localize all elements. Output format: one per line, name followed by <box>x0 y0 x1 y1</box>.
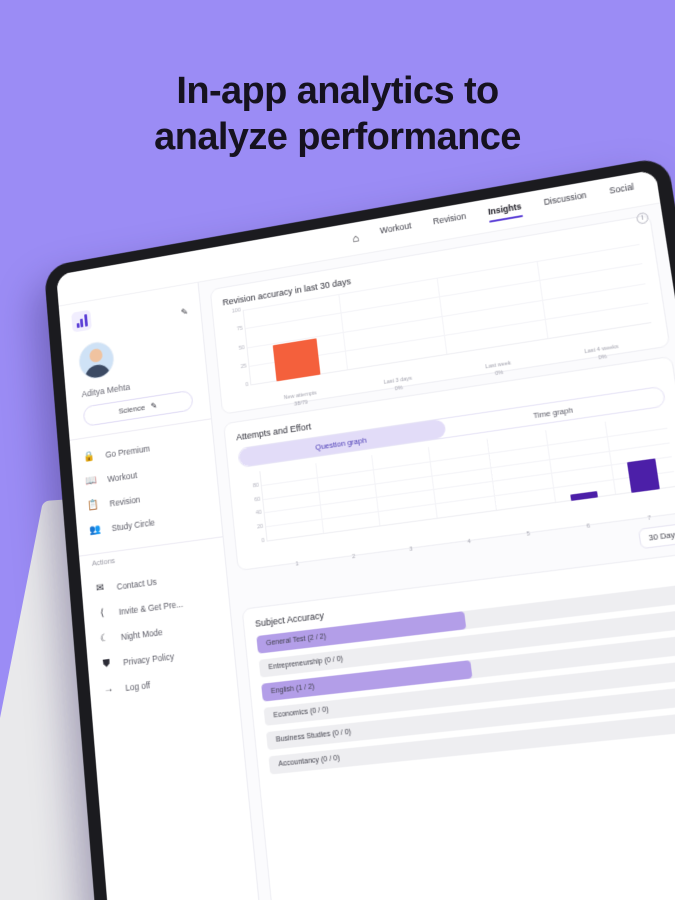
bar-slot <box>428 439 495 519</box>
subject-accuracy-list: General Test (2 / 2)›Entrepreneurship (0… <box>256 584 675 900</box>
sidebar-actions-list: ✉ Contact Us ⟨ Invite & Get Pre... ☾ Nig… <box>80 552 237 704</box>
y-axis-tick: 0 <box>232 382 249 390</box>
people-icon: 👥 <box>89 524 102 537</box>
sidebar-header: ✎ Aditya Mehta Science ✎ <box>59 291 209 429</box>
bar-slot <box>544 422 614 503</box>
subject-accuracy-card: Subject Accuracy › General Test (2 / 2)›… <box>242 551 675 900</box>
headline-line-1: In-app analytics to <box>0 68 675 114</box>
bar-slot <box>371 447 437 526</box>
card-title: Subject Accuracy <box>255 610 325 629</box>
sidebar-item-label: Workout <box>107 470 137 484</box>
sidebar-item-label: Invite & Get Pre... <box>118 598 183 616</box>
chart-bar[interactable] <box>272 338 320 382</box>
subject-row-label: Entrepreneurship (0 / 0) <box>259 655 343 672</box>
promo-headline: In-app analytics to analyze performance <box>0 68 675 161</box>
share-icon: ⟨ <box>96 607 109 620</box>
headline-line-2: analyze performance <box>0 114 675 160</box>
y-axis-tick: 100 <box>224 307 241 315</box>
chart-bar[interactable] <box>627 458 660 493</box>
tab-workout[interactable]: Workout <box>379 221 412 243</box>
y-axis-tick: 50 <box>228 345 245 353</box>
sidebar-item-label: Privacy Policy <box>123 651 175 667</box>
tab-discussion[interactable]: Discussion <box>543 190 588 214</box>
tab-revision[interactable]: Revision <box>432 211 467 233</box>
y-axis-tick: 75 <box>226 326 243 334</box>
home-icon[interactable]: ⌂ <box>352 232 360 245</box>
main-content: i Revision accuracy in last 30 days 0255… <box>199 203 675 900</box>
tab-insights[interactable]: Insights <box>487 201 523 223</box>
chart-bar[interactable] <box>570 491 599 501</box>
logout-icon: → <box>102 683 115 696</box>
book-icon: 📖 <box>85 475 98 487</box>
sidebar-item-label: Revision <box>109 494 140 508</box>
bar-slot <box>536 244 651 339</box>
bar-slot <box>243 294 347 385</box>
bar-slot <box>486 430 555 511</box>
subject-pill-label: Science <box>118 403 145 416</box>
app-logo-icon <box>71 310 92 333</box>
app-body: ✎ Aditya Mehta Science ✎ 🔒 Go Pre <box>59 203 675 900</box>
sidebar-item-label: Contact Us <box>116 576 157 591</box>
subject-row-label: Business Studies (0 / 0) <box>267 728 352 744</box>
y-axis-tick: 0 <box>248 538 265 546</box>
y-axis-tick: 20 <box>246 524 263 532</box>
shield-icon: ⛊ <box>100 658 113 671</box>
tab-social[interactable]: Social <box>609 182 636 203</box>
subject-row-label: Accountancy (0 / 0) <box>269 755 340 770</box>
tablet-mockup: ⌂ Workout Revision Insights Discussion S… <box>44 156 675 900</box>
lock-icon: 🔒 <box>83 451 96 463</box>
y-axis-tick: 60 <box>243 496 260 504</box>
message-icon: ✉ <box>94 582 107 595</box>
bar-slot <box>338 278 446 371</box>
subject-row-label: Economics (0 / 0) <box>264 706 329 720</box>
y-axis-tick: 40 <box>245 510 262 518</box>
days-select[interactable]: 30 Days ▾ <box>638 521 675 549</box>
sidebar-item-label: Log off <box>125 679 151 692</box>
days-select-value: 30 Days <box>648 529 675 543</box>
bar-slot <box>604 413 675 495</box>
moon-icon: ☾ <box>98 632 111 645</box>
edit-icon[interactable]: ✎ <box>150 401 157 411</box>
sidebar-nav-list: 🔒 Go Premium 📖 Workout 📋 Revision � <box>70 419 222 545</box>
y-axis-tick: 80 <box>242 482 259 490</box>
edit-profile-icon[interactable]: ✎ <box>180 307 188 319</box>
sidebar-item-label: Go Premium <box>105 443 150 459</box>
avatar[interactable] <box>78 339 116 381</box>
tablet-screen: ⌂ Workout Revision Insights Discussion S… <box>56 170 675 900</box>
bar-slot <box>436 261 547 355</box>
y-axis-tick: 25 <box>230 363 247 371</box>
bar-slot <box>259 463 322 541</box>
bar-slot <box>315 455 379 534</box>
sidebar-item-label: Night Mode <box>121 626 163 641</box>
sidebar-item-label: Study Circle <box>111 517 155 533</box>
clipboard-icon: 📋 <box>87 499 100 511</box>
